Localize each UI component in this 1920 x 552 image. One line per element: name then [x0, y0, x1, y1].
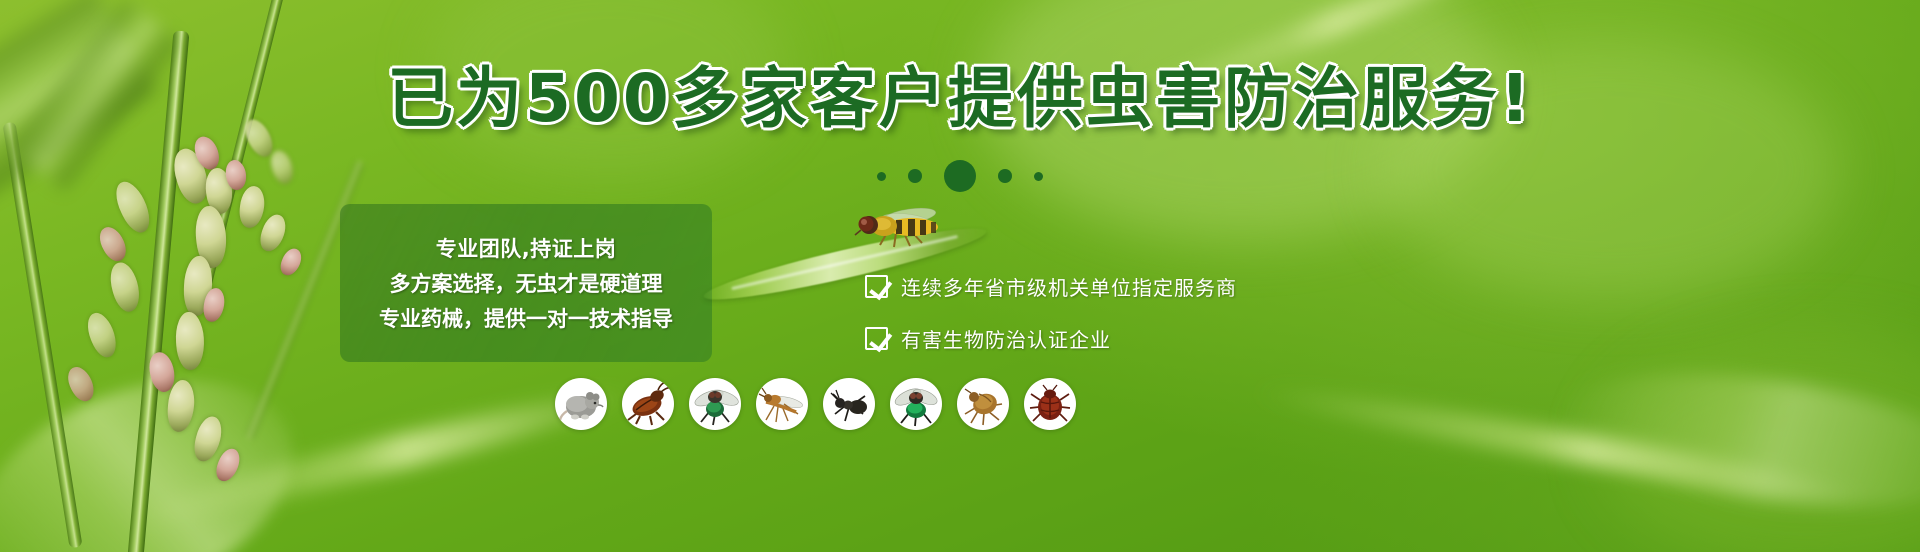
features-panel: 专业团队,持证上岗 多方案选择，无虫才是硬道理 专业药械，提供一对一技术指导 [340, 204, 712, 362]
checkbox-checked-icon [865, 327, 888, 350]
rat-icon [555, 378, 607, 430]
background-bokeh-3 [1600, 330, 1920, 552]
pest-icon-row [555, 378, 1076, 430]
background-blade-2 [1252, 376, 1868, 513]
leaf-bottom-right-icon [1554, 351, 1920, 528]
ant-icon [823, 378, 875, 430]
feature-line-1: 专业团队,持证上岗 [436, 233, 616, 263]
headline-text: 已为500多家客户提供虫害防治服务! [387, 60, 1533, 137]
mosquito-icon [756, 378, 808, 430]
green-fly-icon [890, 378, 942, 430]
decoration-dot-small-right [1034, 172, 1043, 181]
list-item: 有害生物防治认证企业 [865, 324, 1237, 353]
feature-line-2: 多方案选择，无虫才是硬道理 [390, 268, 663, 298]
flea-icon [957, 378, 1009, 430]
fly-icon [689, 378, 741, 430]
page-title: 已为500多家客户提供虫害防治服务! [0, 66, 1920, 132]
cockroach-icon [622, 378, 674, 430]
decoration-dot-small-left [877, 172, 886, 181]
checklist-label-2: 有害生物防治认证企业 [901, 324, 1111, 353]
hoverfly-icon [852, 203, 952, 251]
decoration-dot-medium-right [998, 169, 1012, 183]
bedbug-icon [1024, 378, 1076, 430]
promo-banner: 已为500多家客户提供虫害防治服务! 专业团队,持证上岗 多方案选择，无虫才是硬… [0, 0, 1920, 552]
guarantee-checklist: 连续多年省市级机关单位指定服务商 有害生物防治认证企业 [865, 272, 1237, 353]
checkbox-checked-icon [865, 275, 888, 298]
leaf-bottom-left-icon [0, 337, 325, 552]
list-item: 连续多年省市级机关单位指定服务商 [865, 272, 1237, 301]
dot-decoration [0, 160, 1920, 192]
checklist-label-1: 连续多年省市级机关单位指定服务商 [901, 272, 1237, 301]
decoration-dot-medium-left [908, 169, 922, 183]
decoration-dot-large-center [944, 160, 976, 192]
feature-line-3: 专业药械，提供一对一技术指导 [379, 303, 673, 333]
